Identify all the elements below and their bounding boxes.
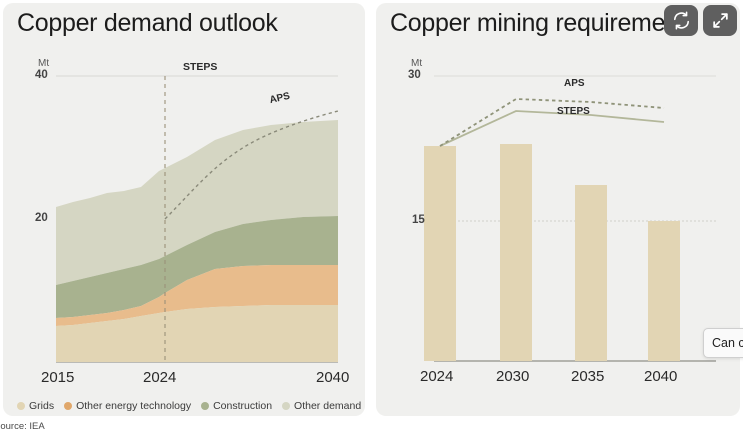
expand-button[interactable] — [703, 5, 737, 36]
bar-2035 — [575, 185, 607, 361]
right-panel-title: Copper mining requireme — [390, 9, 665, 38]
bar-2040 — [648, 221, 680, 361]
legend-item-construction[interactable]: Construction — [201, 400, 272, 412]
left-x-tick-2040: 2040 — [316, 369, 349, 386]
right-x-tick-2035: 2035 — [571, 368, 604, 385]
legend-item-other-demand[interactable]: Other demand — [282, 400, 361, 412]
copper-mining-requirements-panel: Copper mining requireme Mt 30 15 APS STE… — [376, 3, 740, 416]
legend-item-grids[interactable]: Grids — [17, 400, 54, 412]
legend-label: Construction — [213, 400, 272, 412]
left-x-tick-2024: 2024 — [143, 369, 176, 386]
right-y-tick-15: 15 — [412, 214, 425, 226]
right-y-tick-30: 30 — [408, 69, 421, 81]
legend-swatch-icon — [17, 402, 25, 410]
legend-swatch-icon — [201, 402, 209, 410]
right-x-tick-2040: 2040 — [644, 368, 677, 385]
left-y-tick-20: 20 — [35, 212, 48, 224]
chart-screenshot-root: Copper demand outlook Mt 40 20 STEPS A — [0, 0, 743, 434]
expand-icon — [711, 11, 730, 30]
source-note: Source: IEA — [0, 421, 45, 432]
legend-swatch-icon — [64, 402, 72, 410]
tooltip-text: Can c — [712, 336, 743, 350]
left-y-tick-40: 40 — [35, 69, 48, 81]
bar-2030 — [500, 144, 532, 361]
left-series-label-aps: APS — [269, 91, 292, 106]
left-x-tick-2015: 2015 — [41, 369, 74, 386]
left-panel-title: Copper demand outlook — [17, 9, 278, 38]
left-chart-legend: Grids Other energy technology Constructi… — [17, 400, 361, 412]
refresh-button[interactable] — [664, 5, 698, 36]
right-chart-plot — [376, 3, 740, 416]
right-y-axis-unit: Mt — [411, 58, 422, 69]
legend-label: Other demand — [294, 400, 361, 412]
legend-label: Grids — [29, 400, 54, 412]
refresh-icon — [672, 11, 691, 30]
legend-swatch-icon — [282, 402, 290, 410]
right-series-label-steps: STEPS — [557, 106, 590, 117]
tooltip-popover: Can c — [703, 328, 743, 358]
left-y-axis-unit: Mt — [38, 58, 49, 69]
legend-label: Other energy technology — [76, 400, 191, 412]
right-x-tick-2024: 2024 — [420, 368, 453, 385]
right-x-tick-2030: 2030 — [496, 368, 529, 385]
copper-demand-outlook-panel: Copper demand outlook Mt 40 20 STEPS A — [3, 3, 365, 416]
legend-item-other-energy-technology[interactable]: Other energy technology — [64, 400, 191, 412]
bar-2024 — [424, 146, 456, 361]
left-scenario-label-steps: STEPS — [183, 61, 217, 73]
right-series-label-aps: APS — [564, 78, 585, 89]
